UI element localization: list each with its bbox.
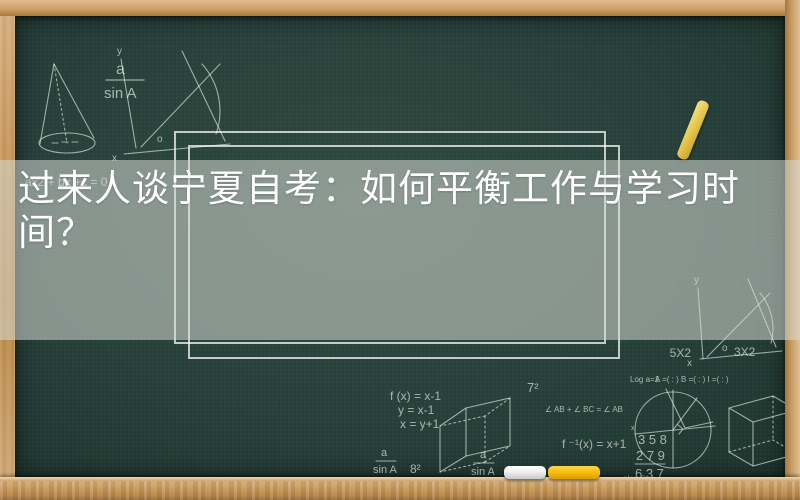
chalk-stick-yellow-tray[interactable]	[548, 466, 600, 479]
svg-text:x: x	[631, 425, 635, 432]
ledge-top-lip	[0, 477, 800, 481]
svg-text:sin A: sin A	[104, 85, 137, 102]
page-title: 过来人谈宁夏自考：如何平衡工作与学习时间？	[18, 167, 800, 255]
cube-diagram-left	[440, 398, 510, 472]
svg-text:o: o	[722, 343, 728, 354]
cone-diagram	[39, 64, 95, 153]
law-of-sines-a: a sin A	[373, 447, 398, 476]
function-fx: f (x) = x-1	[390, 389, 441, 403]
svg-text:a: a	[480, 449, 487, 461]
power-eight: 8²	[410, 462, 421, 476]
cube-diagram-right	[729, 396, 785, 466]
label-3x2: 3X2	[734, 345, 756, 359]
circle-sector-diagram: x	[631, 389, 715, 468]
svg-text:o: o	[157, 134, 163, 145]
svg-text:a: a	[381, 447, 388, 459]
blackboard-banner: a sin A y x o ax2 + bx +c = 0 y x	[0, 0, 800, 500]
svg-text:y: y	[117, 46, 122, 57]
matrix-row: A =( : ) B =( : ) I =( : )	[655, 375, 729, 384]
wood-frame-top	[0, 0, 800, 16]
label-35x2: 35X2	[670, 346, 691, 360]
chalk-group-bottom-right: A =( : ) B =( : ) I =( : ) x	[625, 368, 785, 477]
law-of-sines-b: a sin A	[471, 449, 496, 477]
law-of-sines-top: a sin A	[104, 61, 144, 102]
function-y: y = x-1	[398, 403, 435, 417]
svg-text:sin A: sin A	[471, 466, 496, 477]
angle-sum: ∠ AB + ∠ BC = ∠ AB	[545, 405, 623, 414]
function-x: x = y+1	[400, 417, 440, 431]
inverse-function: f ⁻¹(x) = x+1	[562, 437, 627, 451]
svg-text:sin A: sin A	[373, 464, 398, 476]
chalk-tray-ledge	[0, 477, 800, 500]
chalk-stick-white-tray[interactable]	[504, 466, 546, 479]
